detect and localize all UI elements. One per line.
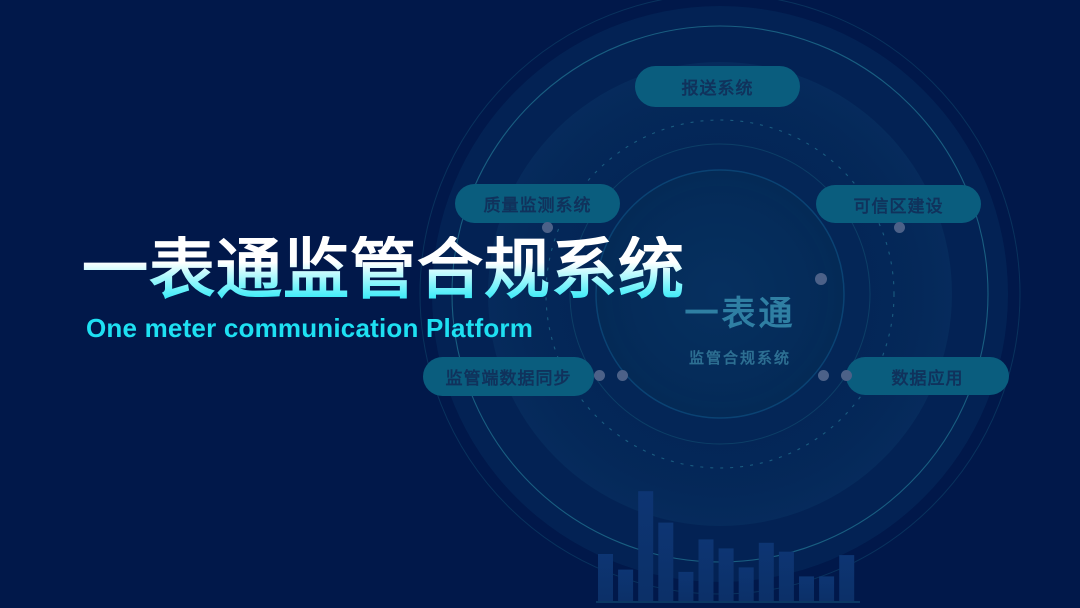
node-dot-7 [841,370,852,381]
node-dot-3 [815,273,827,285]
chart-bar [658,523,673,601]
slide-canvas: 一表通监管合规系统 One meter communication Platfo… [0,0,1080,608]
page-title: 一表通监管合规系统 [82,236,685,305]
node-dot-4 [594,370,605,381]
chart-bar [819,576,834,601]
chart-bar [678,572,693,601]
chart-bar [759,543,774,601]
node-pill-baosong[interactable]: 报送系统 [635,66,800,107]
page-subtitle: One meter communication Platform [86,313,685,344]
node-pill-jianguanduan[interactable]: 监管端数据同步 [423,357,594,396]
node-dot-5 [617,370,628,381]
chart-bar [699,539,714,601]
node-dot-6 [818,370,829,381]
chart-bar [618,570,633,601]
chart-bar [799,576,814,601]
chart-bar [779,552,794,601]
chart-bar [739,567,754,601]
chart-bar [719,548,734,601]
chart-bar [598,554,613,601]
hero-title-block: 一表通监管合规系统 One meter communication Platfo… [82,236,685,344]
node-pill-shujuyingyong[interactable]: 数据应用 [846,357,1009,395]
chart-bar [638,491,653,601]
chart-bar [839,555,854,601]
node-pill-kexinqu[interactable]: 可信区建设 [816,185,981,223]
node-dot-2 [894,222,905,233]
node-pill-zhiliang[interactable]: 质量监测系统 [455,184,620,223]
